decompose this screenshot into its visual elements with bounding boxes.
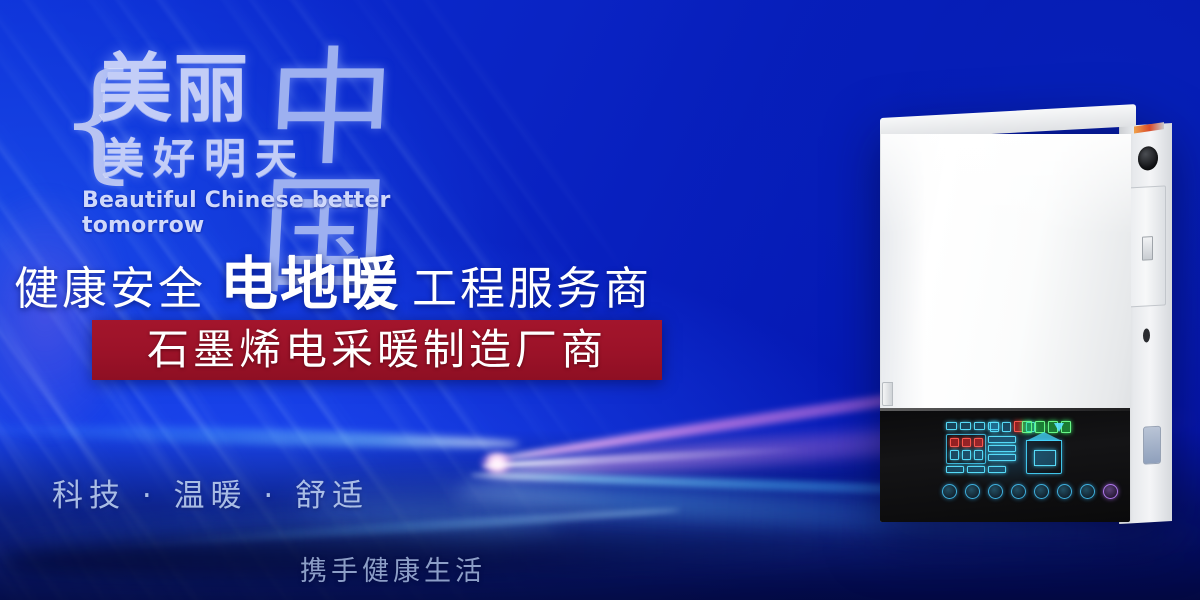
lcd-bar-seg (988, 454, 1016, 461)
settings-button[interactable] (1080, 484, 1095, 499)
lcd-status-seg (950, 438, 959, 447)
product-electric-boiler (872, 118, 1172, 536)
lcd-left-group (946, 434, 986, 464)
lcd-status-seg (974, 438, 983, 447)
product-side-hole (1143, 328, 1150, 342)
product-side-port-icon (1138, 146, 1158, 171)
beam-focal-highlight (480, 452, 514, 474)
product-left-clip (882, 382, 893, 406)
lcd-status-seg (950, 450, 959, 460)
product-panel-top-edge (880, 408, 1130, 411)
headline: 健康安全 电地暖 工程服务商 (14, 255, 652, 313)
headline-part-one: 健康安全 (14, 266, 206, 311)
lcd-temperature-value (1034, 450, 1056, 466)
brand-logo: { 美丽 美好明天 中国 Beautiful Chinese better to… (58, 52, 488, 222)
lcd-display (946, 422, 1064, 476)
control-button-row[interactable] (942, 484, 1118, 499)
lcd-bar-seg (988, 436, 1016, 443)
lcd-label-seg (974, 422, 985, 430)
lcd-bar-seg (988, 445, 1016, 452)
lcd-status-seg (974, 450, 983, 460)
lcd-label-seg (946, 422, 957, 430)
promo-banner: { 美丽 美好明天 中国 Beautiful Chinese better to… (0, 0, 1200, 600)
lcd-label-seg (960, 422, 971, 430)
lcd-bottom-seg (946, 466, 964, 473)
temp-down-button[interactable] (1011, 484, 1026, 499)
lcd-mode-seg (990, 422, 999, 432)
lcd-signal-icon (1054, 423, 1064, 432)
slogan-primary: 科技 · 温暖 · 舒适 (52, 470, 369, 515)
lcd-house-icon (1026, 440, 1062, 474)
lcd-bottom-seg (967, 466, 985, 473)
timer-button[interactable] (1034, 484, 1049, 499)
temp-up-button[interactable] (988, 484, 1003, 499)
slogan-secondary: 携手健康生活 (300, 549, 486, 588)
product-side-switch (1142, 236, 1153, 261)
clock-button[interactable] (1057, 484, 1072, 499)
red-banner-text: 石墨烯电采暖制造厂商 (147, 329, 607, 371)
logo-primary-text: 美丽 (98, 54, 250, 125)
headline-part-three: 工程服务商 (412, 266, 652, 311)
lcd-mode-seg (1002, 422, 1011, 432)
lock-button[interactable] (1103, 484, 1118, 499)
lcd-bottom-seg (988, 466, 1006, 473)
mode-button[interactable] (965, 484, 980, 499)
product-control-panel (880, 408, 1130, 522)
product-side-vent (1143, 426, 1161, 465)
product-top-connector (1134, 122, 1164, 133)
lcd-status-seg (962, 438, 971, 447)
logo-english-tagline: Beautiful Chinese better tomorrow (82, 188, 488, 238)
lcd-status-seg (962, 450, 971, 460)
power-button[interactable] (942, 484, 957, 499)
headline-emphasis: 电地暖 (220, 255, 400, 313)
red-banner: 石墨烯电采暖制造厂商 (92, 320, 662, 380)
